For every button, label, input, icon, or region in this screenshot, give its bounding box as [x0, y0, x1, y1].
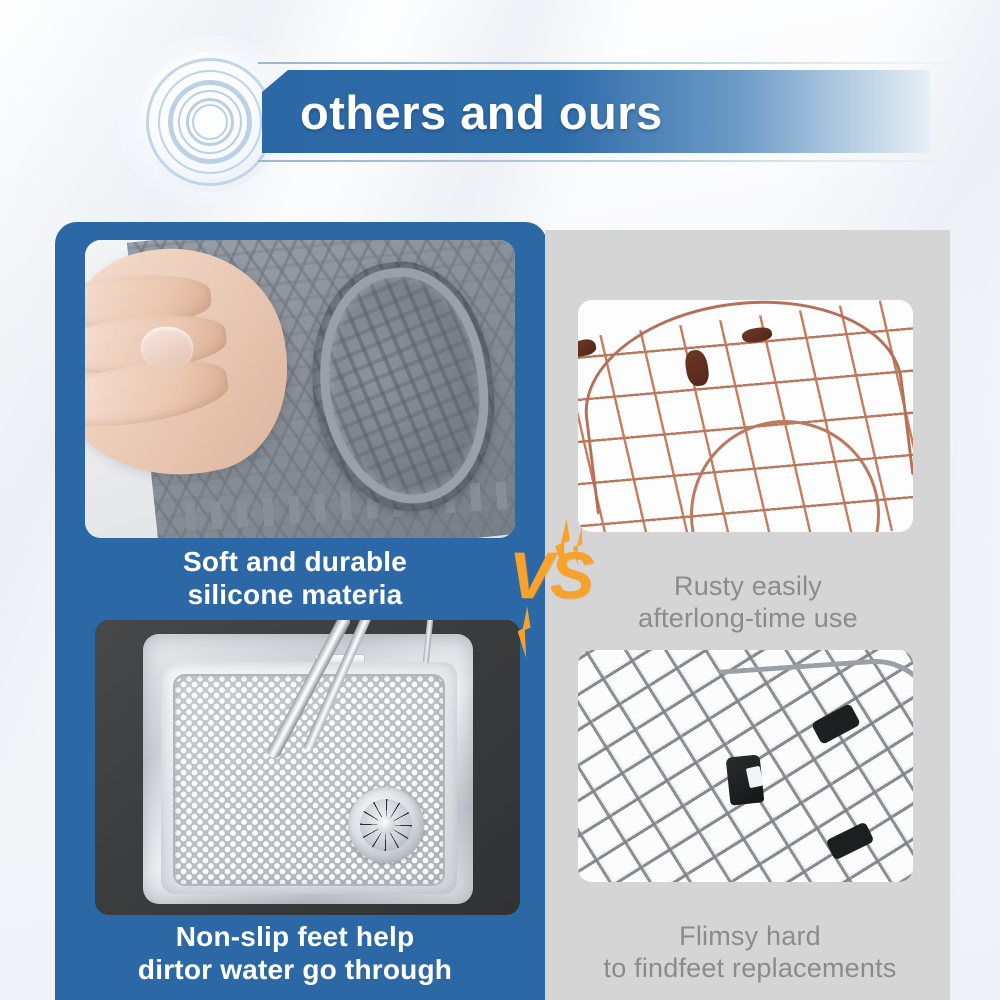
caption-line-2: to findfeet replacements	[540, 952, 960, 984]
banner-rule-bottom	[258, 160, 958, 162]
caption-line-1: Flimsy hard	[540, 920, 960, 952]
infographic-root: others and ours Soft and durable silicon…	[0, 0, 1000, 1000]
chrome-wire-rack-photo	[578, 650, 913, 882]
caption-flimsy-hard: Flimsy hard to findfeet replacements	[540, 920, 960, 985]
lightning-bolt-icon-bottom	[514, 605, 532, 658]
vs-label: VS	[495, 542, 605, 608]
banner-rule-top	[258, 62, 958, 64]
page-title: others and ours	[300, 76, 940, 148]
ring-core	[192, 104, 228, 140]
caption-line-1: Rusty easily	[548, 570, 948, 602]
tech-circle-icon	[140, 52, 280, 192]
caption-rusty-easily: Rusty easily afterlong-time use	[548, 570, 948, 635]
hand-bending-silicone-mat-photo	[85, 240, 515, 538]
caption-line-1: Soft and durable	[70, 545, 520, 578]
thumbnail	[140, 326, 193, 370]
drain-hub	[377, 816, 395, 834]
rubber-clip	[726, 754, 765, 805]
header-banner: others and ours	[0, 0, 1000, 200]
drain	[348, 787, 424, 863]
sink-with-silicone-mat-photo	[95, 620, 520, 915]
clip-slot	[746, 766, 764, 788]
caption-line-2: dirtor water go through	[60, 953, 530, 986]
caption-soft-durable: Soft and durable silicone materia	[70, 545, 520, 611]
photo-backdrop	[578, 300, 913, 532]
caption-line-2: silicone materia	[70, 578, 520, 611]
photo-backdrop	[578, 650, 913, 882]
rusty-wire-grid-photo	[578, 300, 913, 532]
vs-badge: VS	[495, 520, 605, 655]
caption-line-1: Non-slip feet help	[60, 920, 530, 953]
caption-non-slip-feet: Non-slip feet help dirtor water go throu…	[60, 920, 530, 986]
caption-line-2: afterlong-time use	[548, 602, 948, 634]
